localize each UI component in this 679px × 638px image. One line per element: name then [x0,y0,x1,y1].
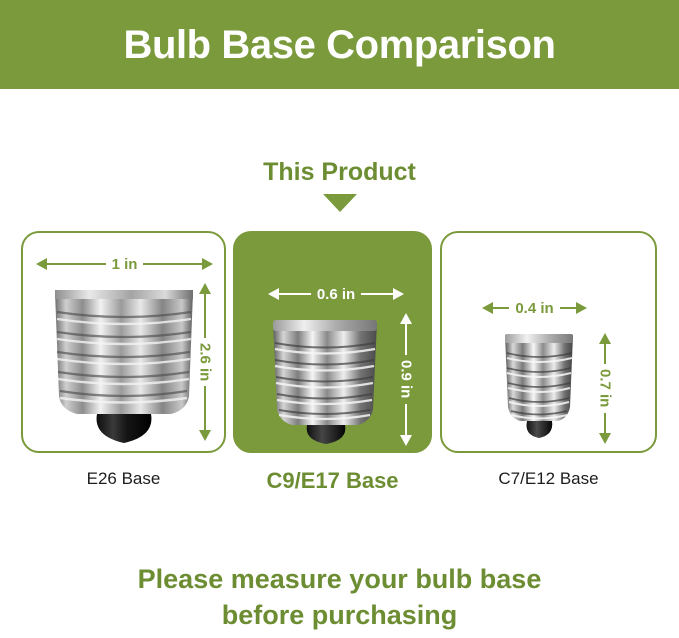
arrow-head-up-icon [599,333,611,344]
arrow-head-left-icon [482,302,493,314]
arrow-head-down-icon [400,435,412,446]
bulb-card-c7e12[interactable]: 0.4 in 0.7 in [440,231,657,453]
bulb-card-e26[interactable]: 1 in 2.6 in [21,231,226,453]
card-captions: E26 Base C9/E17 Base C7/E12 Base [21,470,657,496]
width-dimension-c7e12: 0.4 in [482,299,587,317]
arrow-head-left-icon [36,258,47,270]
arrow-head-left-icon [268,288,279,300]
dimension-line [560,307,576,309]
header-banner: Bulb Base Comparison [0,0,679,89]
caption-c7e12: C7/E12 Base [440,470,657,487]
width-dimension-c9e17: 0.6 in [268,285,404,303]
height-label: 0.7 in [598,364,613,412]
height-label: 2.6 in [198,338,213,386]
arrow-head-down-icon [199,430,211,441]
dimension-line [143,263,202,265]
bulb-card-c9e17[interactable]: 0.6 in 0.9 in [233,231,432,453]
height-label: 0.9 in [399,355,414,403]
dimension-line [604,413,606,433]
dimension-line [493,307,509,309]
bulb-comparison-cards: 1 in 2.6 in [21,231,657,453]
this-product-callout: This Product [0,160,679,212]
width-dimension-e26: 1 in [36,255,213,273]
footer-line-2: before purchasing [0,598,679,634]
arrow-head-right-icon [202,258,213,270]
arrow-head-up-icon [400,313,412,324]
height-dimension-c9e17: 0.9 in [396,313,416,446]
dimension-line [405,404,407,435]
dimension-line [204,294,206,338]
page-title: Bulb Base Comparison [123,25,555,65]
screw-base-e26-icon [51,286,197,451]
width-label: 1 in [106,257,144,272]
triangle-down-icon [323,194,357,212]
height-dimension-c7e12: 0.7 in [595,333,615,444]
arrow-head-up-icon [199,283,211,294]
screw-base-c9e17-icon [270,317,380,450]
width-label: 0.6 in [311,287,361,302]
dimension-line [279,293,311,295]
dimension-line [47,263,106,265]
dimension-line [405,324,407,355]
footer-line-1: Please measure your bulb base [0,562,679,598]
dimension-line [604,344,606,364]
height-dimension-e26: 2.6 in [195,283,215,441]
width-label: 0.4 in [509,301,559,316]
dimension-line [204,386,206,430]
dimension-line [361,293,393,295]
this-product-label: This Product [263,160,416,185]
arrow-head-down-icon [599,433,611,444]
arrow-head-right-icon [393,288,404,300]
footer-note: Please measure your bulb base before pur… [0,562,679,633]
caption-c9e17: C9/E17 Base [233,470,432,492]
arrow-head-right-icon [576,302,587,314]
caption-e26: E26 Base [21,470,226,487]
screw-base-c7e12-icon [503,331,575,444]
